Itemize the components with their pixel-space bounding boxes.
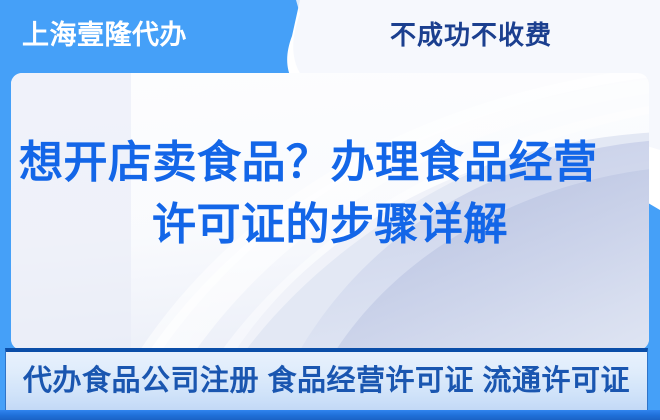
- headline-line-1: 想开店卖食品？办理食品经营: [11, 132, 649, 194]
- headline-block: 想开店卖食品？办理食品经营 许可证的步骤详解: [11, 132, 649, 256]
- keyword-banner-text: 代办食品公司注册 食品经营许可证 流通许可证: [23, 364, 630, 398]
- headline-line-2: 许可证的步骤详解: [11, 194, 649, 256]
- poster-canvas: 上海壹隆代办 不成功不收费 想开店卖食品？办理食品经营 许可证的步骤详解 代办食…: [0, 0, 660, 420]
- bottom-blue-strip: [0, 410, 660, 420]
- brand-title: 上海壹隆代办: [22, 18, 187, 52]
- slogan-text: 不成功不收费: [390, 18, 552, 52]
- keyword-banner: 代办食品公司注册 食品经营许可证 流通许可证: [5, 348, 648, 414]
